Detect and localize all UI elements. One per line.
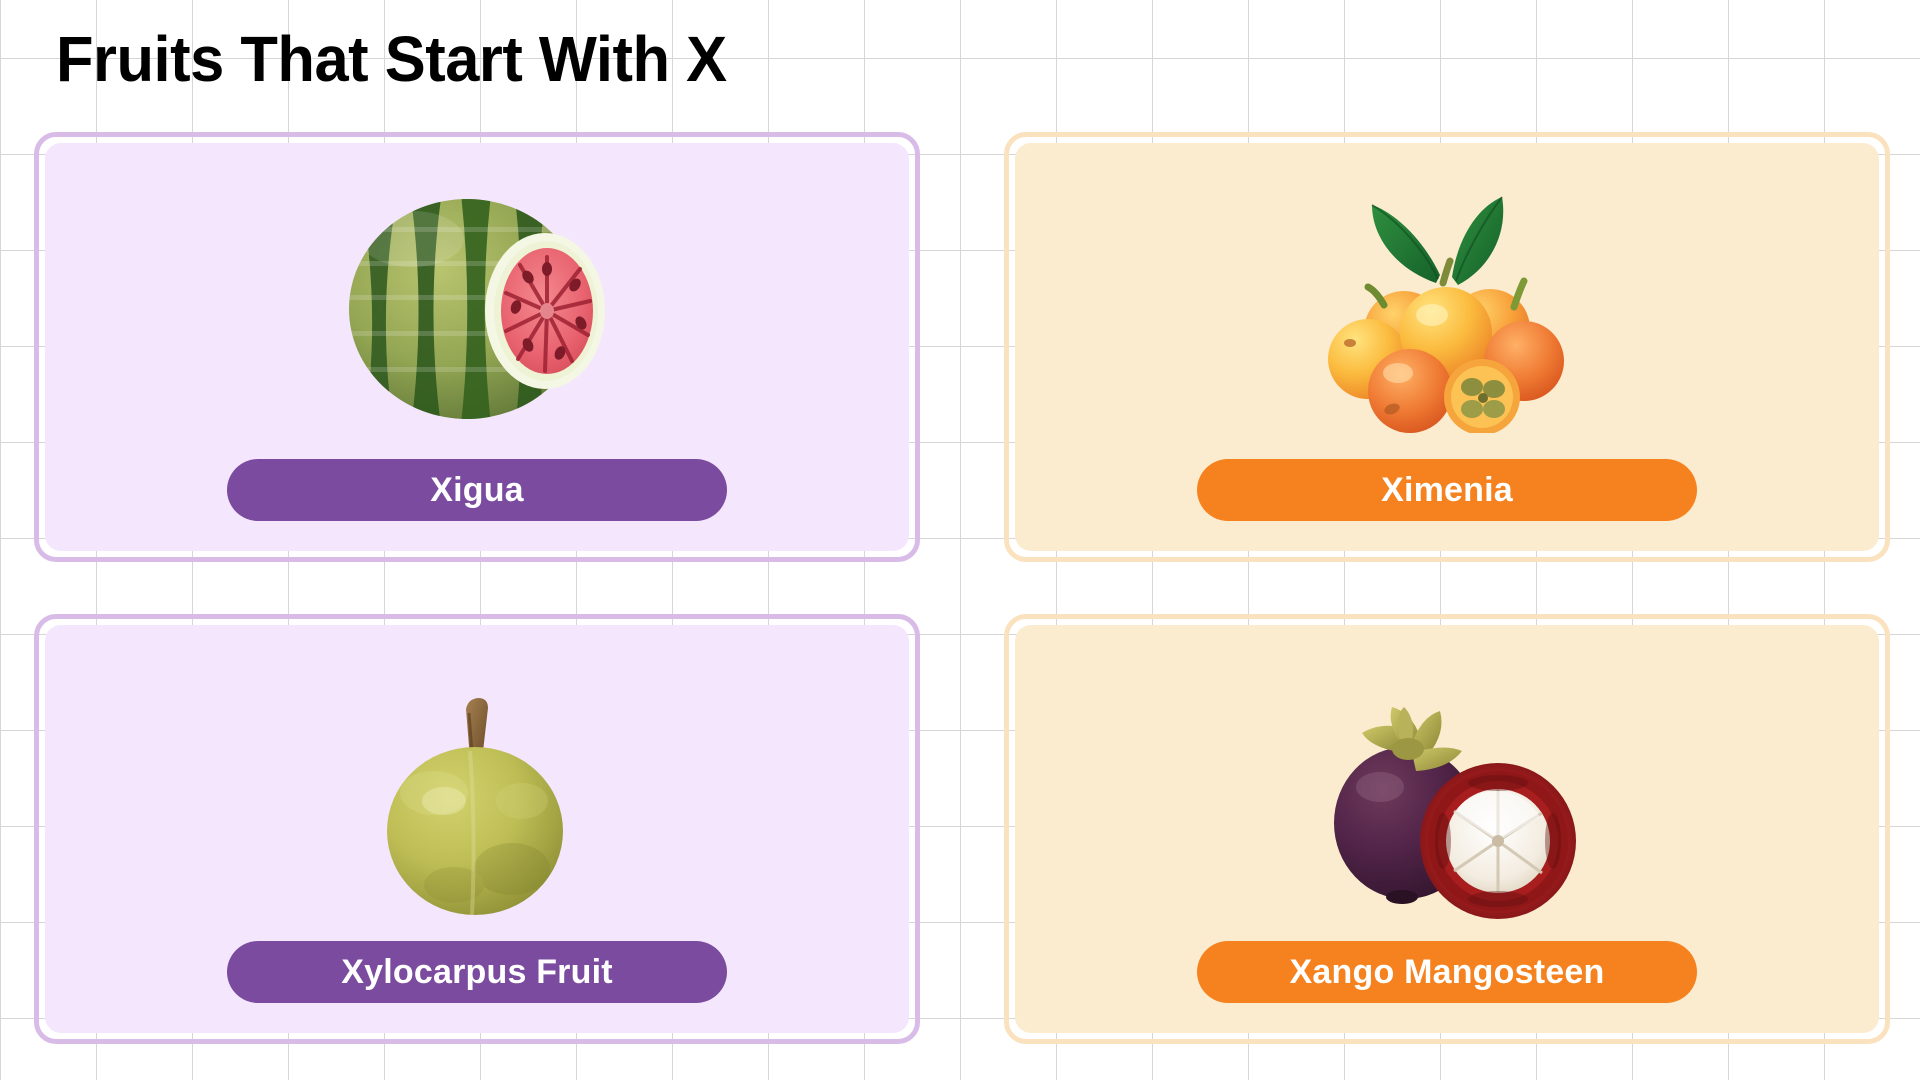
fruit-card-inner: Ximenia: [1015, 143, 1879, 551]
watermelon-xigua-image: [45, 143, 909, 459]
page-root: Fruits That Start With X: [0, 0, 1920, 1080]
fruit-card-grid: Xigua: [34, 132, 1890, 1044]
fruit-label-pill[interactable]: Ximenia: [1197, 459, 1697, 521]
fruit-label-pill[interactable]: Xigua: [227, 459, 727, 521]
page-title: Fruits That Start With X: [56, 22, 727, 96]
fruit-card-inner: Xigua: [45, 143, 909, 551]
fruit-label-pill[interactable]: Xango Mangosteen: [1197, 941, 1697, 1003]
ximenia-fruit-cluster-image: [1015, 143, 1879, 459]
fruit-card-inner: Xango Mangosteen: [1015, 625, 1879, 1033]
fruit-card-inner: Xylocarpus Fruit: [45, 625, 909, 1033]
fruit-card-ximenia[interactable]: Ximenia: [1004, 132, 1890, 562]
fruit-label-pill[interactable]: Xylocarpus Fruit: [227, 941, 727, 1003]
mangosteen-image: [1015, 625, 1879, 941]
fruit-card-xylocarpus-fruit[interactable]: Xylocarpus Fruit: [34, 614, 920, 1044]
fruit-card-xango-mangosteen[interactable]: Xango Mangosteen: [1004, 614, 1890, 1044]
fruit-card-xigua[interactable]: Xigua: [34, 132, 920, 562]
xylocarpus-fruit-image: [45, 625, 909, 941]
